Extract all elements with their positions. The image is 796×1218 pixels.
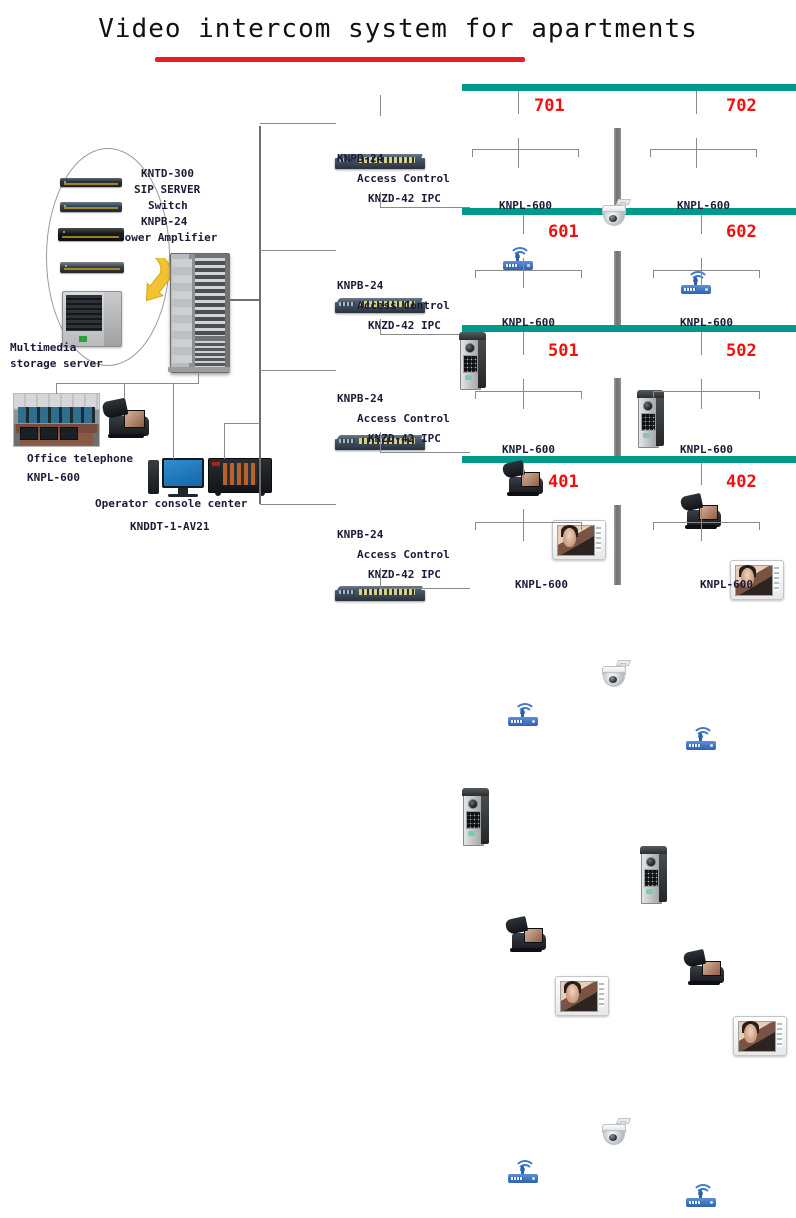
unit-number-401: 401 — [548, 472, 579, 492]
control-room-photo — [13, 393, 100, 447]
monitor-label-401: KNPL-600 — [515, 578, 568, 591]
bus-602-m — [701, 258, 702, 288]
link-to-control-room — [56, 383, 57, 394]
link-trunk-to-switch-1 — [260, 123, 336, 124]
link-trunk-to-switch-2 — [260, 250, 336, 251]
switch-2-ipc: KNZD-42 IPC — [368, 319, 441, 332]
switch-4-model: KNPB-24 — [337, 528, 383, 541]
link-console-to-trunk-h — [224, 423, 260, 424]
monitor-label-502: KNPL-600 — [680, 443, 733, 456]
bus-402-m — [701, 509, 702, 541]
switch-4-access: Access Control — [357, 548, 450, 561]
office-telephone-label-line1: Office telephone — [27, 452, 133, 465]
indoor-monitor-601 — [555, 976, 609, 1016]
bus-502-l — [653, 391, 654, 399]
wifi-router-702 — [681, 270, 711, 294]
switch-3-ipc: KNZD-42 IPC — [368, 432, 441, 445]
storage-label-line2: storage server — [10, 357, 103, 370]
bus-702-r — [756, 149, 757, 157]
link-to-office-phone — [124, 383, 125, 399]
console-pc-tower-icon — [148, 460, 159, 494]
multimedia-storage-server-icon — [62, 291, 122, 347]
monitor-label-501: KNPL-600 — [502, 443, 555, 456]
bus-601-r — [581, 270, 582, 278]
link-console-riser — [224, 423, 225, 459]
bus-702-m — [696, 138, 697, 168]
bus-402-l — [653, 522, 654, 530]
bus-701-m — [518, 138, 519, 168]
server-unit-sip — [60, 178, 122, 187]
switch-1-access: Access Control — [357, 172, 450, 185]
bus-402 — [653, 522, 759, 523]
bus-702 — [650, 149, 756, 150]
console-monitor-icon — [162, 458, 204, 488]
bus-601-l — [475, 270, 476, 278]
wifi-router-501 — [508, 1159, 538, 1183]
elbow-switch-4-drop — [380, 568, 381, 588]
monitor-label-601: KNPL-600 — [502, 316, 555, 329]
bus-402-r — [759, 522, 760, 530]
elbow-switch-2-drop — [380, 319, 381, 334]
bus-701-l — [472, 149, 473, 157]
ptz-camera-floor-5 — [598, 1118, 632, 1144]
bus-501-l — [475, 391, 476, 399]
uplink-switch-1 — [380, 95, 381, 116]
unit-number-402: 402 — [726, 472, 757, 492]
elbow-switch-4-h — [380, 588, 470, 589]
office-telephone-icon — [103, 398, 149, 436]
floor-bar-top — [462, 84, 796, 91]
drop-502-from-bar — [701, 332, 702, 355]
drop-701-from-bar — [518, 91, 519, 114]
switch-2-access: Access Control — [357, 299, 450, 312]
elbow-switch-3-h — [380, 452, 470, 453]
switch-4-ipc: KNZD-42 IPC — [368, 568, 441, 581]
drop-702-from-bar — [696, 91, 697, 114]
elbow-switch-2-h — [380, 334, 470, 335]
drop-602-from-bar — [701, 215, 702, 234]
switch-3-model: KNPB-24 — [337, 392, 383, 405]
office-telephone-label-line2: KNPL-600 — [27, 471, 80, 484]
bus-401-m — [523, 509, 524, 541]
wifi-router-602 — [686, 726, 716, 750]
wifi-router-701 — [503, 246, 533, 270]
link-cabinet-drop-h — [56, 383, 199, 384]
bus-501-r — [581, 391, 582, 399]
ip-phone-602 — [684, 950, 724, 983]
monitor-label-402: KNPL-600 — [700, 578, 753, 591]
unit-number-501: 501 — [548, 341, 579, 361]
bus-501-m — [523, 379, 524, 409]
link-trunk-to-switch-3 — [260, 370, 336, 371]
link-cabinet-drop — [198, 371, 199, 383]
indoor-monitor-602 — [733, 1016, 787, 1056]
drop-401-from-bar — [523, 463, 524, 485]
bus-701 — [472, 149, 578, 150]
door-station-601 — [462, 788, 489, 846]
unit-number-702: 702 — [726, 96, 757, 116]
floor-7-divider-pole — [614, 128, 621, 208]
bus-601-m — [523, 258, 524, 288]
equipment-label-2: Switch — [148, 199, 188, 212]
switch-2-model: KNPB-24 — [337, 279, 383, 292]
bus-401 — [475, 522, 581, 523]
door-station-602 — [640, 846, 667, 904]
operator-console-desk-icon — [208, 458, 272, 493]
bus-701-r — [578, 149, 579, 157]
drop-601-from-bar — [523, 215, 524, 234]
equipment-label-3: KNPB-24 — [141, 215, 187, 228]
console-label-line1: Operator console center — [95, 497, 247, 510]
bus-602-l — [653, 270, 654, 278]
unit-number-601: 601 — [548, 222, 579, 242]
wifi-router-601 — [508, 702, 538, 726]
monitor-label-702: KNPL-600 — [677, 199, 730, 212]
link-trunk-to-switch-4 — [260, 504, 336, 505]
unit-number-602: 602 — [726, 222, 757, 242]
equipment-label-0: KNTD-300 — [141, 167, 194, 180]
drop-501-from-bar — [523, 332, 524, 355]
title-underline — [155, 57, 525, 62]
bus-502-r — [759, 391, 760, 399]
monitor-label-701: KNPL-600 — [499, 199, 552, 212]
bus-502-m — [701, 379, 702, 409]
floor-4-divider-pole — [614, 505, 621, 585]
bus-601 — [475, 270, 581, 271]
bus-401-l — [475, 522, 476, 530]
elbow-switch-1-drop — [380, 192, 381, 207]
switch-3-access: Access Control — [357, 412, 450, 425]
elbow-switch-1-h — [380, 207, 470, 208]
switch-1-ipc: KNZD-42 IPC — [368, 192, 441, 205]
unit-number-701: 701 — [534, 96, 565, 116]
bus-702-l — [650, 149, 651, 157]
ptz-camera-floor-7 — [598, 199, 632, 225]
server-unit-extra — [60, 262, 124, 273]
door-station-702 — [637, 390, 664, 448]
wifi-router-502 — [686, 1183, 716, 1207]
storage-label-line1: Multimedia — [10, 341, 76, 354]
link-cabinet-to-trunk — [228, 299, 261, 301]
server-unit-switch — [60, 202, 122, 212]
server-rack-cabinet-icon — [170, 253, 228, 371]
drop-402-from-bar — [701, 463, 702, 485]
bus-501 — [475, 391, 581, 392]
unit-number-502: 502 — [726, 341, 757, 361]
link-to-console-pc — [173, 383, 174, 459]
bus-401-r — [581, 522, 582, 530]
bus-602-r — [759, 270, 760, 278]
ip-phone-601 — [506, 917, 546, 950]
network-trunk-line — [259, 126, 261, 504]
console-label-line2: KNDDT-1-AV21 — [130, 520, 209, 533]
elbow-switch-3-drop — [380, 432, 381, 452]
server-unit-amplifier — [58, 228, 124, 241]
equipment-label-4: Power Amplifier — [118, 231, 217, 244]
page-title: Video intercom system for apartments — [0, 14, 796, 44]
indoor-monitor-701 — [552, 520, 606, 560]
bus-502 — [653, 391, 759, 392]
ptz-camera-floor-6 — [598, 660, 632, 686]
floor-6-divider-pole — [614, 251, 621, 325]
switch-1-model: KNPB-24 — [337, 152, 383, 165]
bus-602 — [653, 270, 759, 271]
equipment-label-1: SIP SERVER — [134, 183, 200, 196]
floor-5-divider-pole — [614, 378, 621, 456]
monitor-label-602: KNPL-600 — [680, 316, 733, 329]
door-station-701 — [459, 332, 486, 390]
